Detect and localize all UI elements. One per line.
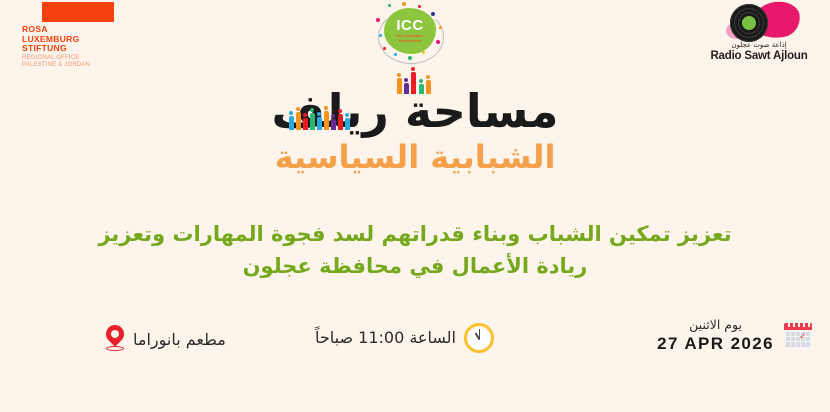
figure-icon [426, 80, 431, 94]
event-date-value: 27 APR 2026 [657, 333, 774, 354]
icc-dot-icon [402, 2, 406, 6]
rls-subtitle: REGIONAL OFFICE PALESTINE & JORDAN [22, 55, 114, 69]
figure-icon [310, 113, 315, 130]
pin-hole-icon [111, 330, 119, 338]
event-time-text: الساعة 11:00 صباحاً [315, 328, 456, 348]
icc-dot-icon [436, 40, 440, 44]
icc-dot-icon [388, 4, 391, 7]
icc-acronym: ICC [396, 18, 423, 33]
icc-dot-icon [408, 56, 412, 60]
clock-center-icon [478, 337, 481, 340]
icc-dot-icon [376, 18, 380, 22]
pin-shadow-icon [106, 346, 124, 351]
calendar-ring-icon [788, 323, 790, 327]
icc-dot-icon [394, 53, 397, 56]
clock-icon [464, 323, 494, 353]
figure-icon [331, 119, 336, 130]
figure-icon [317, 117, 322, 130]
icc-tagline-line2: Development [397, 39, 424, 44]
rls-sub-line1: REGIONAL OFFICE [22, 55, 114, 62]
icc-dot-icon [431, 12, 435, 16]
location-pin-icon [105, 325, 125, 355]
event-description: تعزيز تمكين الشباب وبناء قدراتهم لسد فجو… [95, 218, 735, 282]
title-block: مساحة ريلف الشبابية السياسية [0, 86, 830, 176]
figure-icon [303, 118, 308, 130]
calendar-ring-icon [793, 323, 795, 327]
figure-icon [397, 78, 402, 94]
icc-dot-icon [379, 34, 382, 37]
page-title: مساحة ريلف [0, 86, 830, 136]
radio-arabic-name: إذاعة صوت عجلون [704, 41, 814, 50]
event-day-label: يوم الاثنين [657, 317, 774, 333]
rls-sub-line2: PALESTINE & JORDAN [22, 62, 114, 69]
radio-english-name: Radio Sawt Ajloun [704, 50, 814, 63]
event-location: مطعم بانوراما [105, 325, 226, 355]
event-date: ✓ يوم الاثنين 27 APR 2026 [657, 317, 812, 354]
icc-logo: ICC For Sustainable Development [374, 2, 446, 66]
calendar-ring-icon [808, 323, 810, 327]
calendar-icon: ✓ [784, 323, 812, 349]
logo-row: ROSA LUXEMBURG STIFTUNG REGIONAL OFFICE … [0, 0, 830, 70]
rls-name-line3: STIFTUNG [22, 44, 114, 54]
calendar-ring-icon [798, 323, 800, 327]
calendar-ring-icon [803, 323, 805, 327]
vinyl-label-icon [742, 16, 756, 30]
event-location-text: مطعم بانوراما [133, 330, 226, 350]
icc-tagline: For Sustainable Development [397, 34, 424, 43]
figure-icon [404, 83, 409, 94]
figure-icon [345, 118, 350, 130]
figure-icon [289, 116, 294, 130]
icc-green-blob-icon: ICC For Sustainable Development [384, 8, 436, 54]
page-subtitle: الشبابية السياسية [0, 138, 830, 176]
calendar-check-icon: ✓ [799, 333, 807, 342]
event-details-row: ✓ يوم الاثنين 27 APR 2026 الساعة 11:00 ص… [0, 315, 830, 365]
event-date-text: يوم الاثنين 27 APR 2026 [657, 317, 774, 354]
icc-dot-icon [418, 5, 421, 8]
event-time: الساعة 11:00 صباحاً [315, 323, 494, 353]
radio-sawt-ajloun-logo: إذاعة صوت عجلون Radio Sawt Ajloun [704, 1, 814, 63]
icc-dot-icon [439, 26, 442, 29]
rosa-luxemburg-stiftung-logo: ROSA LUXEMBURG STIFTUNG REGIONAL OFFICE … [22, 2, 114, 69]
vinyl-record-icon [716, 1, 802, 41]
event-flyer: ROSA LUXEMBURG STIFTUNG REGIONAL OFFICE … [0, 0, 830, 412]
figure-icon [411, 72, 416, 94]
figure-icon [338, 114, 343, 130]
figure-icon [419, 84, 424, 94]
icc-dot-icon [383, 47, 386, 50]
people-row-icon [289, 102, 351, 130]
rls-name: ROSA LUXEMBURG STIFTUNG [22, 25, 114, 54]
rls-orange-block-icon [42, 2, 114, 22]
figure-icon [324, 111, 329, 130]
people-raising-hands-icon [393, 62, 439, 94]
figure-icon [296, 112, 301, 130]
